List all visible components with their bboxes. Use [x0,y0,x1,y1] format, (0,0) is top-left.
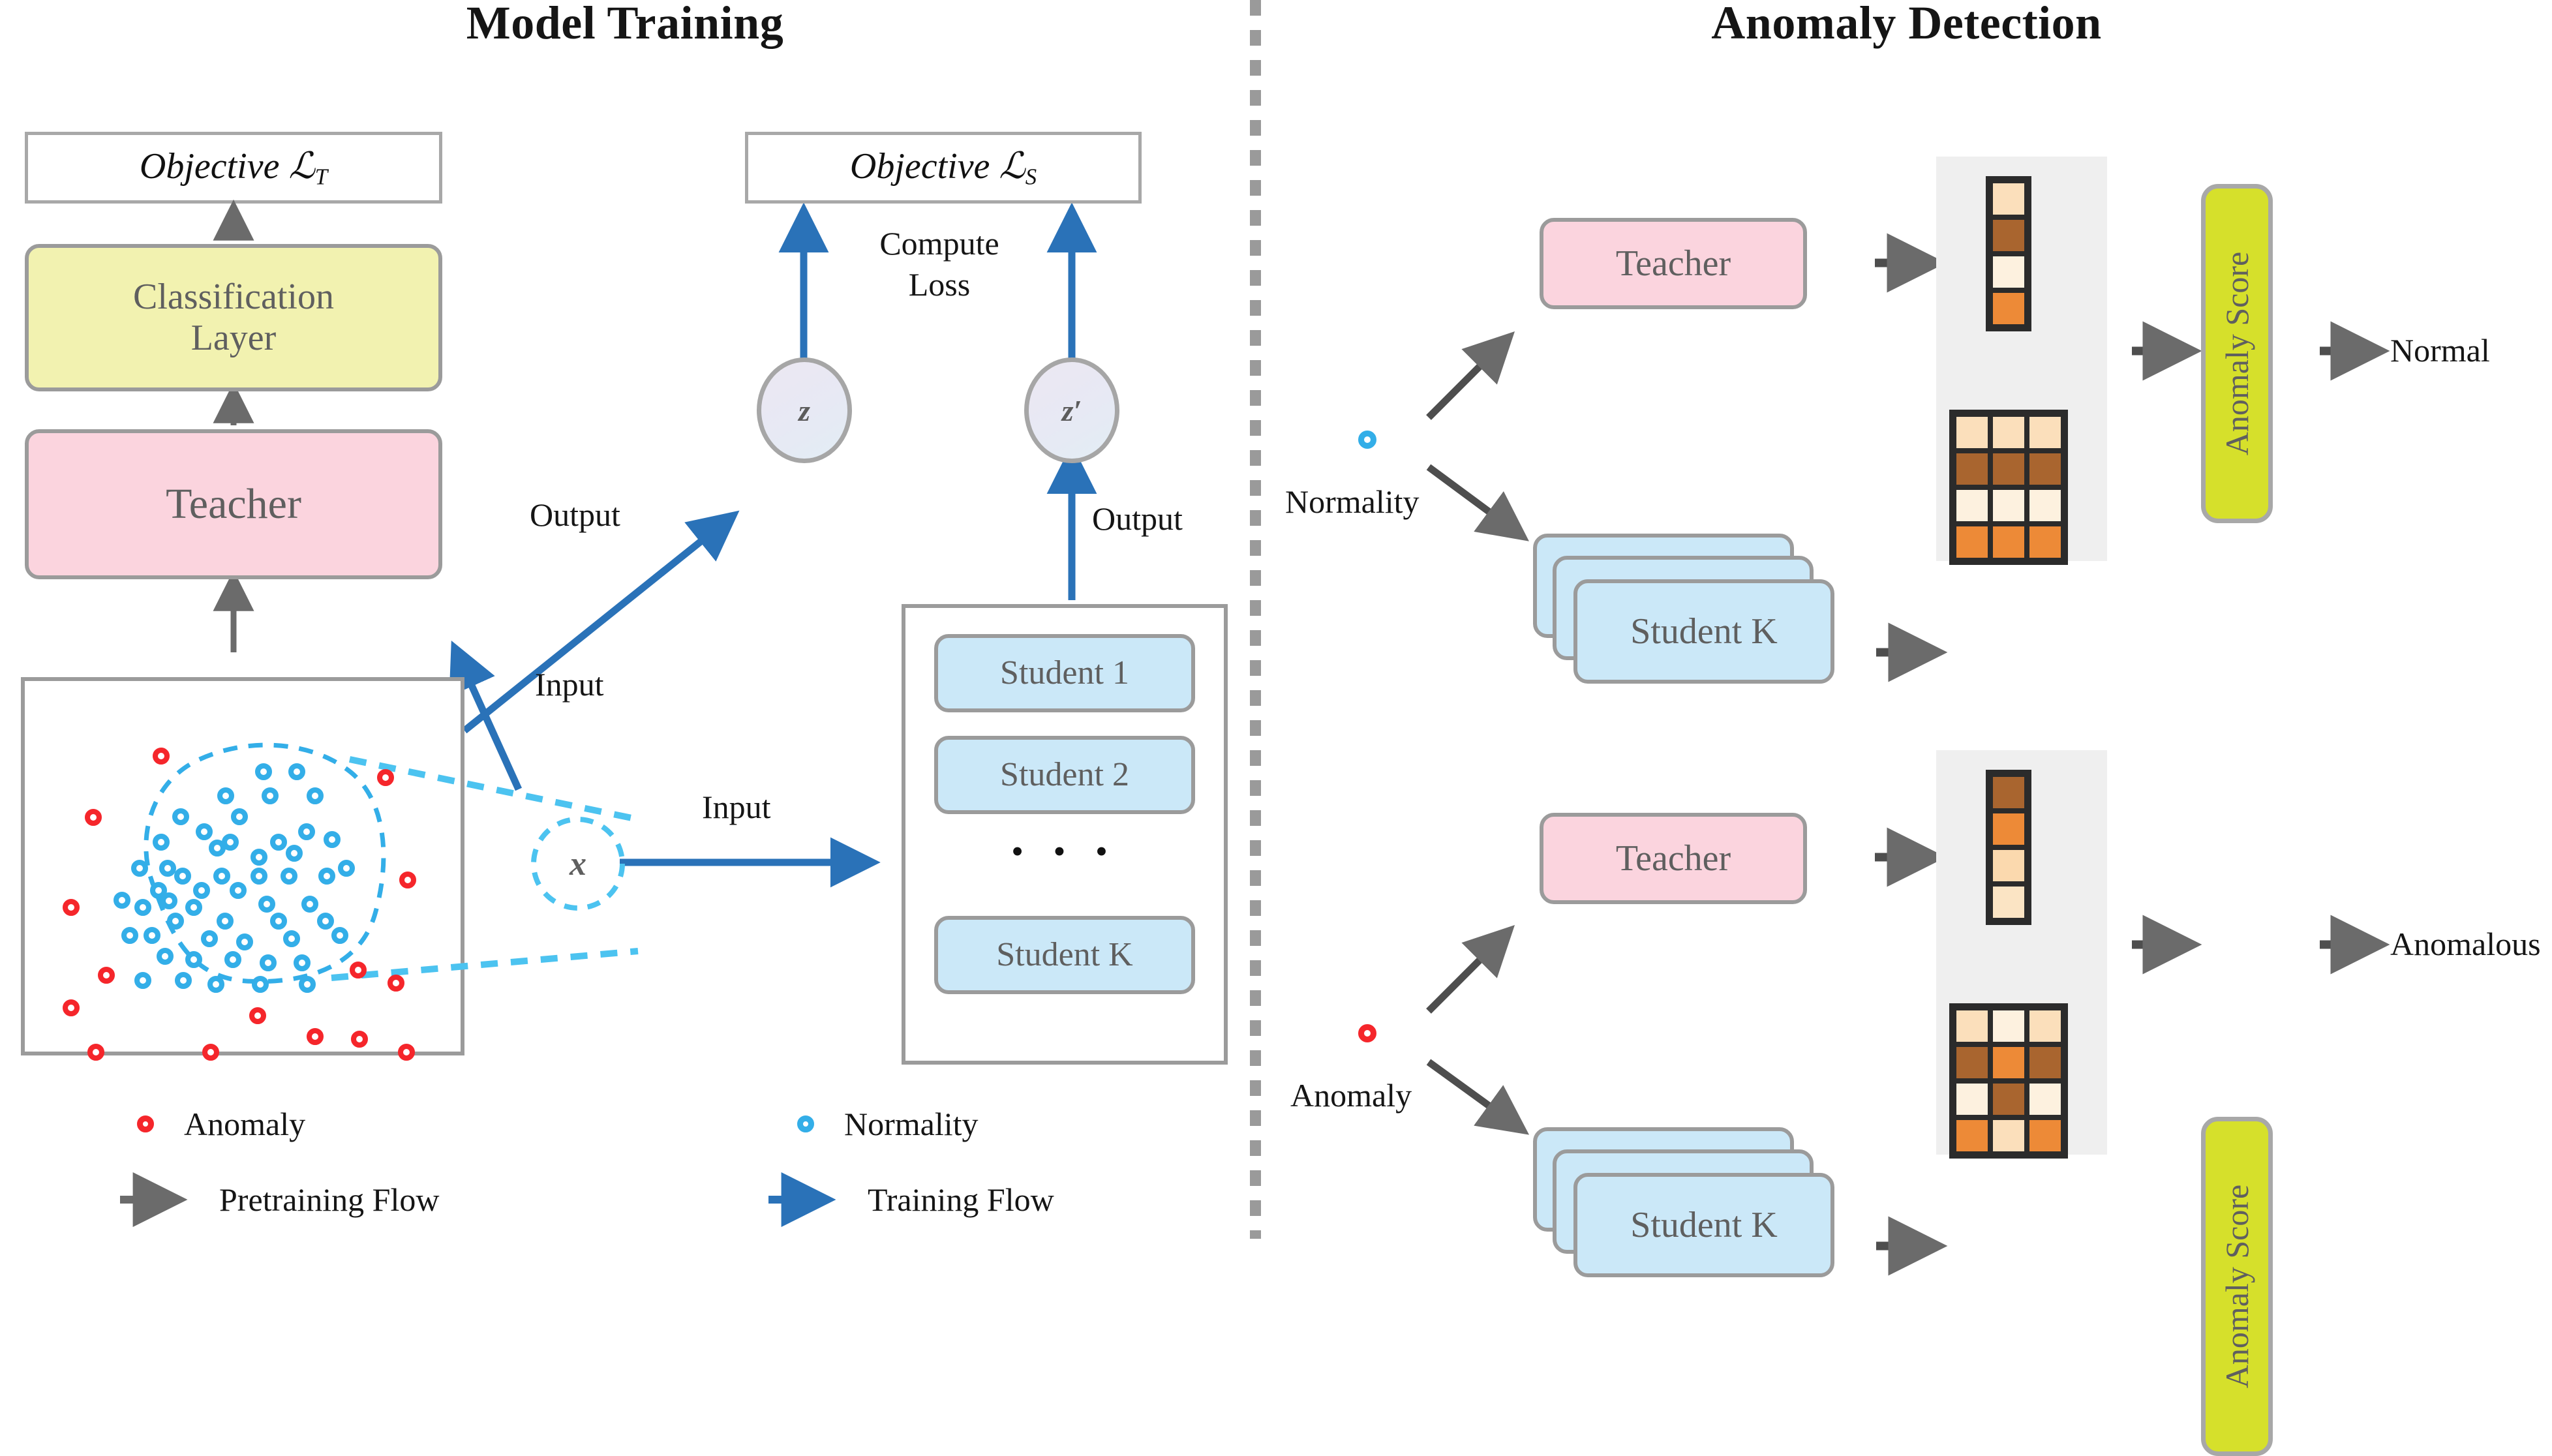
heat-cell-2-1 [1990,487,2027,524]
teacher-box-row-1[interactable]: Teacher [1540,218,1807,309]
anomaly-score-label-row-1: Anomaly Score [2218,252,2256,455]
heat-cell-3-0 [1954,524,1990,560]
legend-label-pretraining-flow: Pretraining Flow [219,1181,439,1219]
objective-student-label: Objective ℒS [850,145,1037,190]
heat-cell-0-0 [1954,414,1990,451]
z-prime-node: z′ [1024,357,1119,463]
heat-cell-1-1 [1990,1044,2027,1081]
heat-cell-0-2 [2027,414,2063,451]
heat-cell-2-1 [1990,1081,2027,1117]
heat-cell-1 [1990,811,2027,847]
verdict-row-2: Anomalous [2390,925,2541,963]
heat-cell-3-2 [2027,524,2063,560]
legend-label-normality: Normality [844,1105,979,1143]
detection-row-2-input-dot [1358,1024,1376,1042]
student-heatmap-row-2 [1949,1003,2068,1159]
x-sample-bubble: x [530,815,626,912]
pretraining-arrow-icon [120,1190,189,1209]
heat-cell-1-0 [1954,1044,1990,1081]
teacher-heatmap-row-2 [1986,770,2031,925]
detection-row-1-input-label: Normality [1285,483,1420,521]
student-label-row-2: Student K [1630,1205,1778,1246]
teacher-heatmap-row-1 [1986,176,2031,331]
heat-cell-0 [1990,774,2027,811]
heat-cell-2-0 [1954,1081,1990,1117]
anomaly-score-label-row-2: Anomaly Score [2218,1185,2256,1388]
heat-cell-2 [1990,254,2027,290]
classification-layer-label: Classification Layer [133,277,334,358]
legend-item-training-flow: Training Flow [768,1181,1054,1219]
x-sample-label: x [530,815,626,912]
z-label: z [798,393,810,428]
heat-cell-1 [1990,217,2027,254]
verdict-row-1: Normal [2390,331,2490,369]
teacher-box-training[interactable]: Teacher [25,429,442,579]
heat-cell-2 [1990,847,2027,884]
heat-cell-3-1 [1990,1117,2027,1154]
input-upper-label: Input [535,665,604,703]
legend-item-normality: Normality [797,1105,979,1143]
output-right-label: Output [1092,500,1183,538]
legend-item-pretraining-flow: Pretraining Flow [120,1181,439,1219]
student-box-row-1[interactable]: Student K [1573,579,1834,684]
heat-cell-0-0 [1954,1008,1990,1044]
heat-cell-0-2 [2027,1008,2063,1044]
anomaly-score-pill-row-2: Anomaly Score [2201,1117,2273,1456]
heat-cell-1-2 [2027,451,2063,487]
teacher-label-row-1: Teacher [1616,243,1731,284]
heat-cell-0-1 [1990,1008,2027,1044]
teacher-label-row-2: Teacher [1616,838,1731,879]
objective-student-box: Objective ℒS [745,132,1142,204]
teacher-box-row-2[interactable]: Teacher [1540,813,1807,904]
data-distribution-plot [21,677,464,1055]
classification-layer-box[interactable]: Classification Layer [25,244,442,391]
heat-cell-2-2 [2027,1081,2063,1117]
z-prime-label: z′ [1062,393,1082,428]
student-2-box[interactable]: Student 2 [934,736,1195,814]
z-node: z [757,357,852,463]
objective-teacher-label: Objective ℒT [140,145,327,190]
heat-cell-1-1 [1990,451,2027,487]
heat-cell-0-1 [1990,414,2027,451]
objective-teacher-box: Objective ℒT [25,132,442,204]
student-2-label: Student 2 [1000,756,1129,794]
student-heatmap-row-1 [1949,410,2068,565]
student-1-box[interactable]: Student 1 [934,634,1195,712]
student-box-row-2[interactable]: Student K [1573,1173,1834,1277]
page-title-anomaly-detection: Anomaly Detection [1261,0,2552,50]
heat-cell-3 [1990,884,2027,920]
anomaly-dot-icon [137,1115,154,1132]
input-lower-label: Input [702,788,771,826]
heat-cell-3-2 [2027,1117,2063,1154]
student-label-row-1: Student K [1630,611,1778,652]
compute-loss-label: Compute Loss [835,223,1044,305]
heat-cell-1-0 [1954,451,1990,487]
normality-dot-icon [797,1115,814,1132]
student-k-box[interactable]: Student K [934,916,1195,994]
legend-label-anomaly: Anomaly [184,1105,305,1143]
heat-cell-2-0 [1954,487,1990,524]
heat-cell-0 [1990,181,2027,217]
student-k-label: Student K [996,936,1132,974]
output-left-label: Output [530,496,620,534]
heat-cell-3-1 [1990,524,2027,560]
heat-cell-2-2 [2027,487,2063,524]
detection-row-2-input-label: Anomaly [1290,1076,1412,1114]
teacher-label: Teacher [166,480,301,528]
student-1-label: Student 1 [1000,654,1129,692]
student-ellipsis: • • • [934,834,1195,869]
training-arrow-icon [768,1190,838,1209]
heat-cell-3-0 [1954,1117,1990,1154]
page-title-model-training: Model Training [0,0,1250,50]
legend-item-anomaly: Anomaly [137,1105,305,1143]
detection-row-1-input-dot [1358,431,1376,449]
heat-cell-1-2 [2027,1044,2063,1081]
panel-divider [1250,0,1261,1239]
normality-boundary [25,681,468,1059]
anomaly-score-pill-row-1: Anomaly Score [2201,184,2273,523]
heat-cell-3 [1990,290,2027,327]
legend-label-training-flow: Training Flow [868,1181,1054,1219]
